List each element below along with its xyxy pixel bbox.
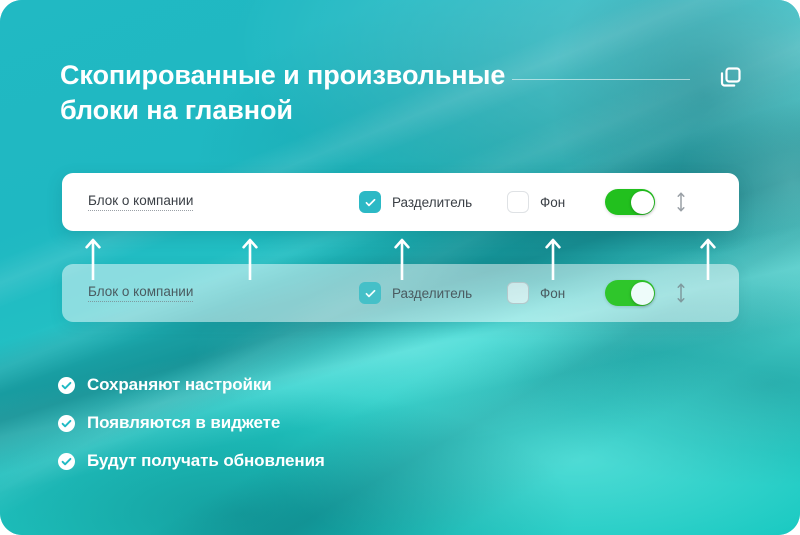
- copy-duplicate-icon[interactable]: [716, 63, 746, 93]
- option-background-label: Фон: [540, 286, 565, 301]
- arrow-up-icon: [393, 236, 411, 280]
- visibility-toggle[interactable]: [605, 189, 655, 215]
- option-separator-label: Разделитель: [392, 286, 472, 301]
- slide-card: Скопированные и произвольные блоки на гл…: [0, 0, 800, 535]
- option-background[interactable]: Фон: [507, 282, 565, 304]
- checkbox-separator[interactable]: [359, 282, 381, 304]
- list-item-label: Появляются в виджете: [87, 413, 280, 433]
- option-separator[interactable]: Разделитель: [359, 282, 472, 304]
- list-item: Появляются в виджете: [58, 404, 325, 442]
- check-circle-icon: [58, 377, 75, 394]
- option-background-label: Фон: [540, 195, 565, 210]
- option-separator-label: Разделитель: [392, 195, 472, 210]
- option-separator[interactable]: Разделитель: [359, 191, 472, 213]
- block-name-label[interactable]: Блок о компании: [88, 193, 193, 211]
- list-item: Будут получать обновления: [58, 442, 325, 480]
- page-title: Скопированные и произвольные блоки на гл…: [60, 58, 510, 128]
- toggle-knob: [631, 282, 654, 305]
- toggle-knob: [631, 191, 654, 214]
- block-row-original[interactable]: Блок о компании Разделитель Фон: [62, 173, 739, 231]
- page-title-line-2: блоки на главной: [60, 93, 510, 128]
- list-item-label: Сохраняют настройки: [87, 375, 272, 395]
- arrow-up-icon: [699, 236, 717, 280]
- list-item: Сохраняют настройки: [58, 366, 325, 404]
- benefits-list: Сохраняют настройки Появляются в виджете…: [58, 366, 325, 480]
- visibility-toggle[interactable]: [605, 280, 655, 306]
- drag-vertical-icon[interactable]: [674, 191, 688, 213]
- arrow-up-icon: [544, 236, 562, 280]
- checkbox-background[interactable]: [507, 282, 529, 304]
- page-title-line-1: Скопированные и произвольные: [60, 58, 510, 93]
- header-divider-line: [512, 79, 690, 80]
- list-item-label: Будут получать обновления: [87, 451, 325, 471]
- arrow-up-icon: [84, 236, 102, 280]
- drag-vertical-icon[interactable]: [674, 282, 688, 304]
- checkbox-background[interactable]: [507, 191, 529, 213]
- check-circle-icon: [58, 415, 75, 432]
- checkbox-separator[interactable]: [359, 191, 381, 213]
- arrow-up-icon: [241, 236, 259, 280]
- block-name-label[interactable]: Блок о компании: [88, 284, 193, 302]
- check-circle-icon: [58, 453, 75, 470]
- option-background[interactable]: Фон: [507, 191, 565, 213]
